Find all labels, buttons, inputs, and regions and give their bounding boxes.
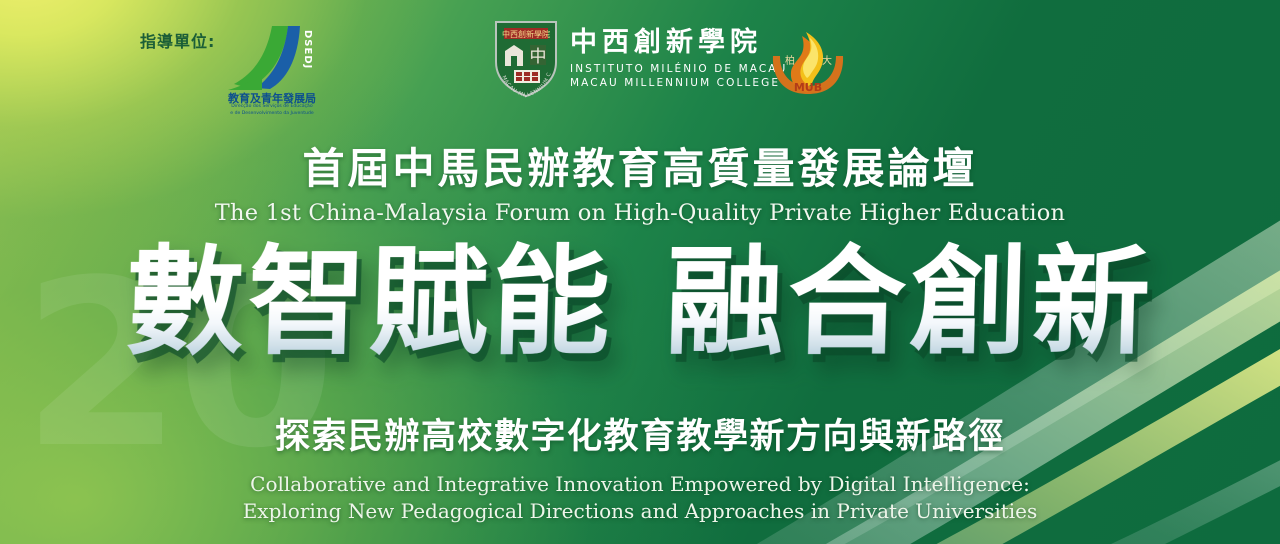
mub-logo: 柏 大 MUB — [766, 20, 850, 100]
svg-text:柏: 柏 — [785, 54, 795, 67]
svg-text:MUB: MUB — [794, 81, 822, 94]
forum-title-english: The 1st China-Malaysia Forum on High-Qua… — [0, 200, 1280, 226]
subtitle-block: 探索民辦高校數字化教育教學新方向與新路徑 Collaborative and I… — [0, 408, 1280, 525]
mmc-english-name: MACAU MILLENNIUM COLLEGE — [570, 76, 787, 90]
dsedj-portuguese-line2: e de Desenvolvimento da Juventude — [230, 111, 313, 116]
svg-text:中: 中 — [530, 47, 547, 67]
subtitle-english-line1: Collaborative and Integrative Innovation… — [0, 471, 1280, 498]
headline-segment-1: 數智賦能 — [124, 238, 615, 368]
subtitle-chinese: 探索民辦高校數字化教育教學新方向與新路徑 — [0, 408, 1280, 459]
mmc-names: 中西創新學院 INSTITUTO MILÉNIO DE MACAU MACAU … — [570, 28, 787, 90]
mmc-shield-icon: 中西創新學院 中 MACAU MILLENNIUM COLLEGE — [492, 18, 560, 100]
headline-slogan: 數智賦能融合創新 — [0, 238, 1280, 368]
guiding-unit-label: 指導單位: — [140, 28, 215, 52]
dsedj-portuguese-line1: Direcção dos Serviços de Educação — [231, 104, 312, 109]
dsedj-mark-icon — [226, 24, 304, 90]
mmc-chinese-name: 中西創新學院 — [570, 28, 787, 58]
forum-title-block: 首屆中馬民辦教育高質量發展論壇 The 1st China-Malaysia F… — [0, 144, 1280, 226]
svg-text:大: 大 — [822, 54, 832, 67]
dsedj-vertical-text: DSEDJ — [302, 30, 313, 69]
headline-segment-2: 融合創新 — [664, 238, 1155, 368]
dsedj-logo: DSEDJ 教育及青年發展局 Direcção dos Serviços de … — [226, 24, 322, 122]
forum-title-chinese: 首屆中馬民辦教育高質量發展論壇 — [0, 144, 1280, 194]
subtitle-english: Collaborative and Integrative Innovation… — [0, 471, 1280, 525]
dsedj-portuguese-name: Direcção dos Serviços de Educação e de D… — [222, 104, 322, 118]
forum-poster: 20 — [0, 0, 1280, 544]
svg-text:中西創新學院: 中西創新學院 — [502, 29, 550, 39]
mmc-portuguese-name: INSTITUTO MILÉNIO DE MACAU — [570, 62, 787, 76]
subtitle-english-line2: Exploring New Pedagogical Directions and… — [0, 498, 1280, 525]
logo-row: 指導單位: DSEDJ 教育及青年發展局 Direcção dos Serviç… — [0, 0, 1280, 128]
mub-flame-icon: 柏 大 MUB — [766, 20, 850, 100]
